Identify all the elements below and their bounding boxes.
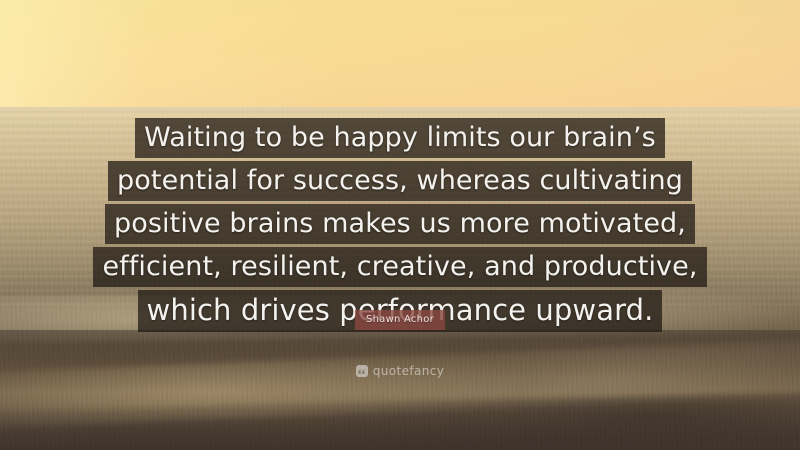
quote-line: efficient, resilient, creative, and prod… <box>93 247 706 287</box>
quote-line: positive brains makes us more motivated, <box>105 204 695 244</box>
quote-mark-icon <box>356 365 368 377</box>
quote-line: Waiting to be happy limits our brain’s <box>135 118 665 158</box>
author-name: Shawn Achor <box>355 310 445 330</box>
quote-card: Waiting to be happy limits our brain’s p… <box>0 0 800 450</box>
quote-line: potential for success, whereas cultivati… <box>108 161 692 201</box>
author-attribution: Shawn Achor <box>0 310 800 330</box>
quote-text-block: Waiting to be happy limits our brain’s p… <box>0 118 800 332</box>
watermark: quotefancy <box>0 364 800 378</box>
watermark-brand: quotefancy <box>373 364 445 378</box>
